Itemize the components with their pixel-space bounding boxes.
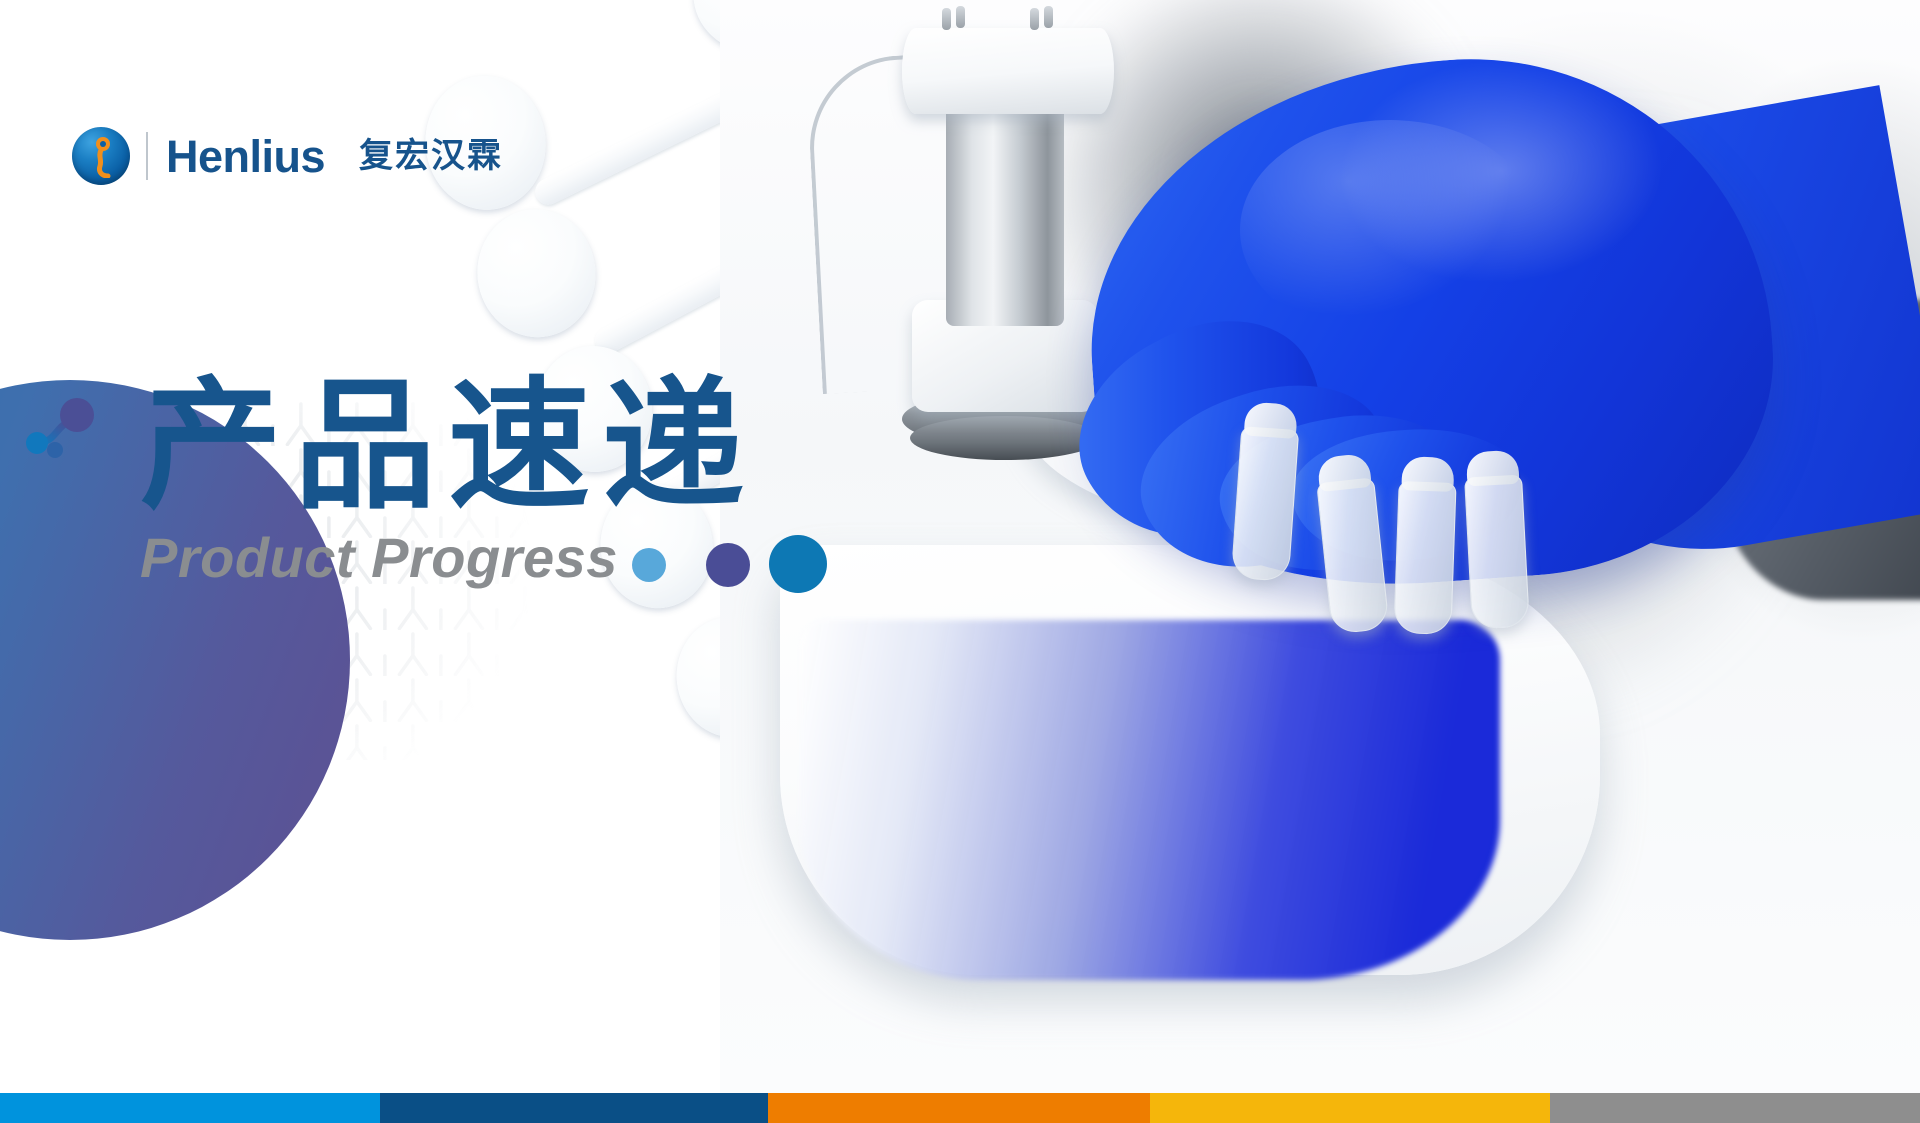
molecule-icon-small [20,398,130,468]
segment-dark-blue [380,1093,768,1123]
brand-logo[interactable]: Henlius 复宏汉霖 [72,124,503,188]
accent-dot [632,548,666,582]
segment-light-blue [0,1093,380,1123]
molecule-icon-accent [700,530,840,600]
segment-orange [768,1093,1150,1123]
brand-name-en: Henlius [166,134,325,179]
henlius-circle-mark-icon [72,127,130,185]
logo-divider [146,132,148,180]
segment-gold [1150,1093,1550,1123]
segment-gray [1550,1093,1920,1123]
lab-centrifuge-photo [720,0,1920,1093]
brand-name-cn: 复宏汉霖 [359,139,503,173]
title-slide: Henlius 复宏汉霖 产品速递 Product Progress [0,0,1920,1123]
bottom-color-bar [0,1093,1920,1123]
page-title-cn: 产品速递 [140,372,900,521]
